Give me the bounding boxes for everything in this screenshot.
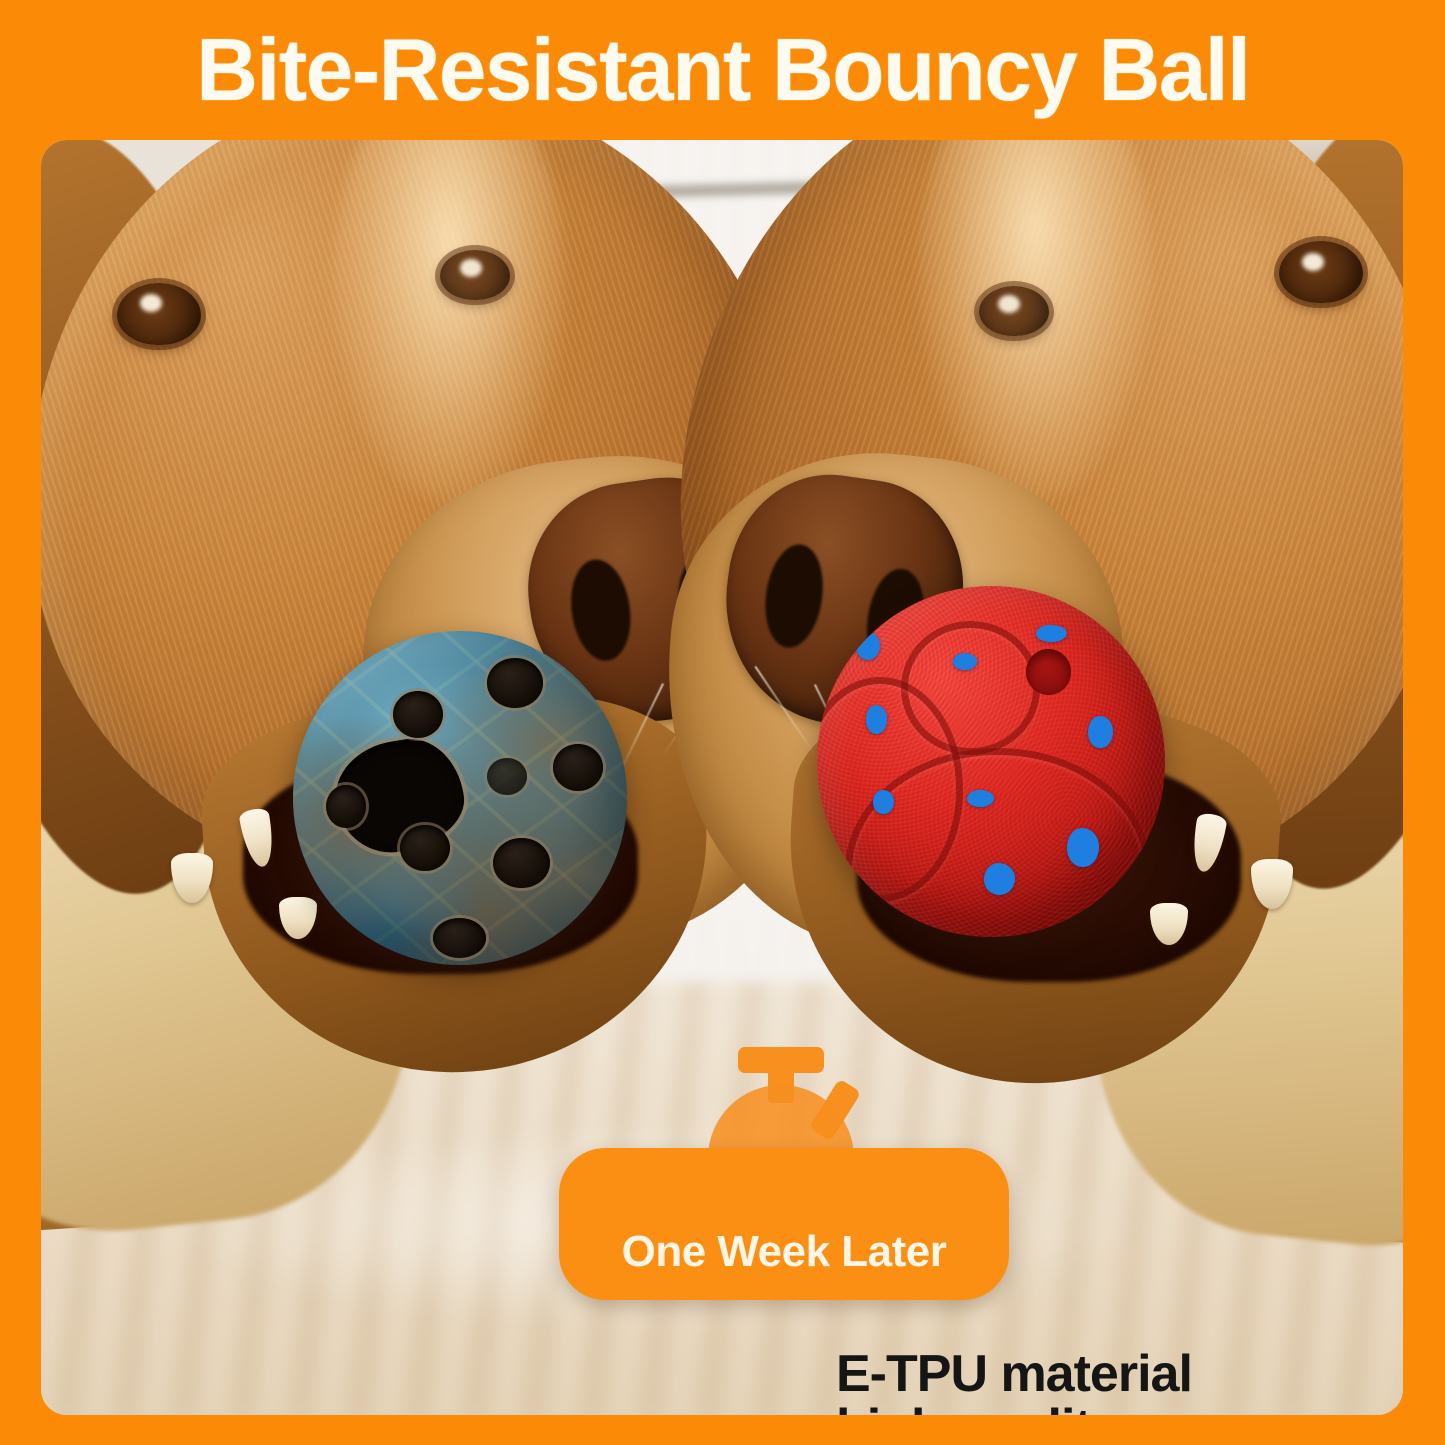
title-banner: Bite-Resistant Bouncy Ball [0, 0, 1445, 140]
ball-speck [1088, 716, 1112, 748]
ball-hole [487, 658, 544, 708]
dog-eye-right-far [979, 286, 1049, 336]
dog-eye-left-near [117, 283, 201, 345]
caption-line-2: high-quality [836, 1399, 1119, 1415]
dog-eye-right-near [1279, 241, 1363, 303]
red-etpu-ball [817, 586, 1164, 937]
ball-speck [984, 863, 1015, 895]
ball-speck [856, 632, 880, 660]
product-poster: Bite-Resistant Bouncy Ball [0, 0, 1445, 1445]
ball-hole [493, 838, 550, 888]
worn-blue-ball [293, 631, 627, 965]
ball-hole [393, 691, 443, 738]
nostril [760, 541, 830, 652]
caption-line-1: E-TPU material [836, 1345, 1192, 1403]
caption-etpu-ball: E-TPU materialhigh-qualitychew-resistant [836, 1347, 1192, 1415]
ball-speck [866, 705, 887, 733]
page-title: Bite-Resistant Bouncy Ball [196, 26, 1249, 114]
ball-hole [487, 758, 527, 795]
dog-eye-left-far [440, 250, 510, 300]
ball-hole [326, 785, 366, 828]
ball-speck [873, 790, 894, 815]
ball-hole [400, 825, 450, 872]
ball-dimple [1026, 649, 1071, 695]
ball-speck [1067, 828, 1098, 867]
comparison-photo: One Week Later Ordinary dog ball E-TPU m… [41, 140, 1403, 1415]
